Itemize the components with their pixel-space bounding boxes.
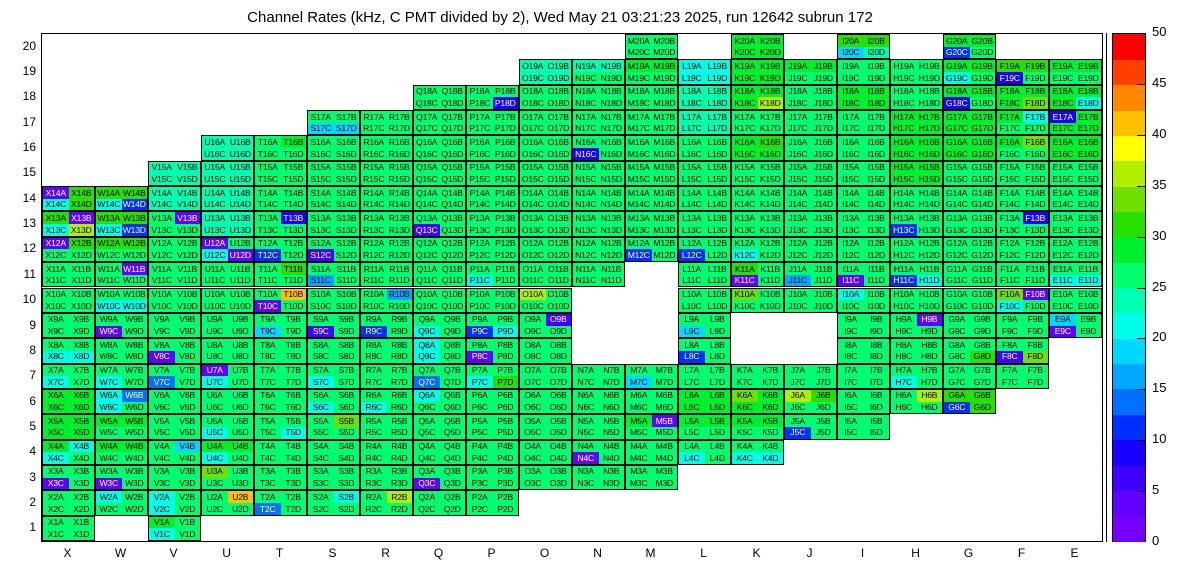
heatmap-cell-X11[interactable]: X11AX11BX11CX11D <box>42 262 95 287</box>
channel-F18B[interactable]: F18B <box>1023 86 1049 98</box>
channel-G12B[interactable]: G12B <box>970 238 996 250</box>
channel-O9D[interactable]: O9D <box>546 326 572 338</box>
channel-W9A[interactable]: W9A <box>96 314 122 326</box>
channel-M3C[interactable]: M3C <box>626 478 652 490</box>
channel-N5B[interactable]: N5B <box>599 415 625 427</box>
channel-N17B[interactable]: N17B <box>599 111 625 123</box>
channel-W8B[interactable]: W8B <box>122 339 148 351</box>
channel-X14A[interactable]: X14A <box>43 187 69 199</box>
channel-W12D[interactable]: W12D <box>122 249 148 261</box>
channel-H18D[interactable]: H18D <box>917 97 943 109</box>
channel-G7D[interactable]: G7D <box>970 376 996 388</box>
channel-R16D[interactable]: R16D <box>387 148 413 160</box>
channel-H12B[interactable]: H12B <box>917 238 943 250</box>
channel-H8B[interactable]: H8B <box>917 339 943 351</box>
heatmap-cell-O19[interactable]: O19AO19BO19CO19D <box>519 59 572 84</box>
channel-K19B[interactable]: K19B <box>758 60 784 72</box>
channel-T6A[interactable]: T6A <box>255 390 281 402</box>
channel-J14D[interactable]: J14D <box>811 199 837 211</box>
channel-J13B[interactable]: J13B <box>811 212 837 224</box>
channel-G17C[interactable]: G17C <box>944 123 970 135</box>
channel-L15A[interactable]: L15A <box>679 162 705 174</box>
channel-Q4C[interactable]: Q4C <box>414 452 440 464</box>
channel-M5B[interactable]: M5B <box>652 415 678 427</box>
channel-U12D[interactable]: U12D <box>228 249 254 261</box>
channel-O19D[interactable]: O19D <box>546 72 572 84</box>
channel-Q9B[interactable]: Q9B <box>440 314 466 326</box>
channel-M16D[interactable]: M16D <box>652 148 678 160</box>
channel-M18B[interactable]: M18B <box>652 86 678 98</box>
channel-J17D[interactable]: J17D <box>811 123 837 135</box>
heatmap-cell-J6[interactable]: J6AJ6BJ6CJ6D <box>784 389 837 414</box>
channel-L18D[interactable]: L18D <box>705 97 731 109</box>
channel-G11A[interactable]: G11A <box>944 263 970 275</box>
channel-X8B[interactable]: X8B <box>69 339 95 351</box>
channel-O17D[interactable]: O17D <box>546 123 572 135</box>
heatmap-cell-H12[interactable]: H12AH12BH12CH12D <box>890 237 943 262</box>
channel-T10B[interactable]: T10B <box>281 289 307 301</box>
channel-N17C[interactable]: N17C <box>573 123 599 135</box>
channel-X7D[interactable]: X7D <box>69 376 95 388</box>
channel-K19D[interactable]: K19D <box>758 72 784 84</box>
channel-F18D[interactable]: F18D <box>1023 97 1049 109</box>
channel-G18B[interactable]: G18B <box>970 86 996 98</box>
channel-L7B[interactable]: L7B <box>705 365 731 377</box>
channel-L4D[interactable]: L4D <box>705 452 731 464</box>
channel-S10A[interactable]: S10A <box>308 289 334 301</box>
channel-X1D[interactable]: X1D <box>69 528 95 540</box>
channel-G9B[interactable]: G9B <box>970 314 996 326</box>
channel-Q15D[interactable]: Q15D <box>440 173 466 185</box>
channel-P17A[interactable]: P17A <box>467 111 493 123</box>
channel-S12B[interactable]: S12B <box>334 238 360 250</box>
channel-O15B[interactable]: O15B <box>546 162 572 174</box>
heatmap-cell-F17[interactable]: F17AF17BF17CF17D <box>996 110 1049 135</box>
heatmap-cell-W5[interactable]: W5AW5BW5CW5D <box>95 414 148 439</box>
channel-G15D[interactable]: G15D <box>970 173 996 185</box>
channel-E9B[interactable]: E9B <box>1076 314 1102 326</box>
channel-M14D[interactable]: M14D <box>652 199 678 211</box>
channel-R16C[interactable]: R16C <box>361 148 387 160</box>
channel-E12D[interactable]: E12D <box>1076 249 1102 261</box>
channel-V12D[interactable]: V12D <box>175 249 201 261</box>
channel-S3D[interactable]: S3D <box>334 478 360 490</box>
channel-P14A[interactable]: P14A <box>467 187 493 199</box>
channel-E15A[interactable]: E15A <box>1050 162 1076 174</box>
channel-I10D[interactable]: I10D <box>864 300 890 312</box>
channel-O9B[interactable]: O9B <box>546 314 572 326</box>
channel-Q6C[interactable]: Q6C <box>414 402 440 414</box>
channel-F8C[interactable]: F8C <box>997 351 1023 363</box>
channel-F8D[interactable]: F8D <box>1023 351 1049 363</box>
channel-W5B[interactable]: W5B <box>122 415 148 427</box>
channel-M5D[interactable]: M5D <box>652 427 678 439</box>
channel-V1D[interactable]: V1D <box>175 528 201 540</box>
heatmap-cell-E19[interactable]: E19AE19BE19CE19D <box>1049 59 1102 84</box>
channel-H16B[interactable]: H16B <box>917 136 943 148</box>
channel-L11D[interactable]: L11D <box>705 275 731 287</box>
heatmap-cell-P7[interactable]: P7AP7BP7CP7D <box>466 364 519 389</box>
channel-Q3C[interactable]: Q3C <box>414 478 440 490</box>
channel-X7C[interactable]: X7C <box>43 376 69 388</box>
channel-N5D[interactable]: N5D <box>599 427 625 439</box>
channel-N16B[interactable]: N16B <box>599 136 625 148</box>
heatmap-cell-J14[interactable]: J14AJ14BJ14CJ14D <box>784 186 837 211</box>
channel-W12A[interactable]: W12A <box>96 238 122 250</box>
heatmap-cell-N15[interactable]: N15AN15BN15CN15D <box>572 161 625 186</box>
heatmap-cell-M6[interactable]: M6AM6BM6CM6D <box>625 389 678 414</box>
channel-W14B[interactable]: W14B <box>122 187 148 199</box>
heatmap-cell-N16[interactable]: N16AN16BN16CN16D <box>572 135 625 160</box>
channel-V10A[interactable]: V10A <box>149 289 175 301</box>
channel-K7D[interactable]: K7D <box>758 376 784 388</box>
channel-U15D[interactable]: U15D <box>228 173 254 185</box>
channel-R2B[interactable]: R2B <box>387 491 413 503</box>
channel-X14B[interactable]: X14B <box>69 187 95 199</box>
channel-T11C[interactable]: T11C <box>255 275 281 287</box>
channel-K12C[interactable]: K12C <box>732 249 758 261</box>
channel-P13D[interactable]: P13D <box>493 224 519 236</box>
channel-O14A[interactable]: O14A <box>520 187 546 199</box>
channel-R17B[interactable]: R17B <box>387 111 413 123</box>
channel-H10B[interactable]: H10B <box>917 289 943 301</box>
channel-J16D[interactable]: J16D <box>811 148 837 160</box>
channel-X9D[interactable]: X9D <box>69 326 95 338</box>
heatmap-cell-T15[interactable]: T15AT15BT15CT15D <box>254 161 307 186</box>
channel-P18A[interactable]: P18A <box>467 86 493 98</box>
channel-X2A[interactable]: X2A <box>43 491 69 503</box>
channel-E10D[interactable]: E10D <box>1076 300 1102 312</box>
channel-X12C[interactable]: X12C <box>43 249 69 261</box>
channel-X14C[interactable]: X14C <box>43 199 69 211</box>
channel-X4B[interactable]: X4B <box>69 441 95 453</box>
channel-U10D[interactable]: U10D <box>228 300 254 312</box>
channel-E11D[interactable]: E11D <box>1076 275 1102 287</box>
channel-W2C[interactable]: W2C <box>96 503 122 515</box>
channel-U12B[interactable]: U12B <box>228 238 254 250</box>
heatmap-cell-L15[interactable]: L15AL15BL15CL15D <box>678 161 731 186</box>
channel-T9D[interactable]: T9D <box>281 326 307 338</box>
heatmap-cell-L12[interactable]: L12AL12BL12CL12D <box>678 237 731 262</box>
channel-N3D[interactable]: N3D <box>599 478 625 490</box>
channel-V13D[interactable]: V13D <box>175 224 201 236</box>
heatmap-cell-R2[interactable]: R2AR2BR2CR2D <box>360 490 413 515</box>
channel-R10A[interactable]: R10A <box>361 289 387 301</box>
channel-S11A[interactable]: S11A <box>308 263 334 275</box>
heatmap-cell-V15[interactable]: V15AV15BV15CV15D <box>148 161 201 186</box>
heatmap-cell-R8[interactable]: R8AR8BR8CR8D <box>360 338 413 363</box>
channel-L16D[interactable]: L16D <box>705 148 731 160</box>
channel-Q8D[interactable]: Q8D <box>440 351 466 363</box>
heatmap-cell-I14[interactable]: I14AI14BI14CI14D <box>837 186 890 211</box>
channel-G17A[interactable]: G17A <box>944 111 970 123</box>
channel-E19A[interactable]: E19A <box>1050 60 1076 72</box>
heatmap-cell-J16[interactable]: J16AJ16BJ16CJ16D <box>784 135 837 160</box>
heatmap-cell-Q3[interactable]: Q3AQ3BQ3CQ3D <box>413 465 466 490</box>
heatmap-cell-J17[interactable]: J17AJ17BJ17CJ17D <box>784 110 837 135</box>
heatmap-cell-G19[interactable]: G19AG19BG19CG19D <box>943 59 996 84</box>
channel-U13A[interactable]: U13A <box>202 212 228 224</box>
heatmap-cell-F11[interactable]: F11AF11BF11CF11D <box>996 262 1049 287</box>
channel-I17C[interactable]: I17C <box>838 123 864 135</box>
heatmap-cell-J11[interactable]: J11AJ11BJ11CJ11D <box>784 262 837 287</box>
channel-I15D[interactable]: I15D <box>864 173 890 185</box>
channel-I12A[interactable]: I12A <box>838 238 864 250</box>
channel-V14A[interactable]: V14A <box>149 187 175 199</box>
channel-O18B[interactable]: O18B <box>546 86 572 98</box>
channel-Q8B[interactable]: Q8B <box>440 339 466 351</box>
channel-S16D[interactable]: S16D <box>334 148 360 160</box>
channel-X2B[interactable]: X2B <box>69 491 95 503</box>
channel-L5B[interactable]: L5B <box>705 415 731 427</box>
channel-G8D[interactable]: G8D <box>970 351 996 363</box>
heatmap-cell-I15[interactable]: I15AI15BI15CI15D <box>837 161 890 186</box>
channel-M12D[interactable]: M12D <box>652 249 678 261</box>
channel-P7B[interactable]: P7B <box>493 365 519 377</box>
heatmap-cell-P18[interactable]: P18AP18BP18CP18D <box>466 85 519 110</box>
channel-T14B[interactable]: T14B <box>281 187 307 199</box>
heatmap-cell-K16[interactable]: K16AK16BK16CK16D <box>731 135 784 160</box>
channel-U4A[interactable]: U4A <box>202 441 228 453</box>
channel-P18B[interactable]: P18B <box>493 86 519 98</box>
channel-R2C[interactable]: R2C <box>361 503 387 515</box>
channel-J13C[interactable]: J13C <box>785 224 811 236</box>
channel-S15D[interactable]: S15D <box>334 173 360 185</box>
channel-G16B[interactable]: G16B <box>970 136 996 148</box>
channel-X10D[interactable]: X10D <box>69 300 95 312</box>
channel-Q18C[interactable]: Q18C <box>414 97 440 109</box>
heatmap-cell-I20[interactable]: I20AI20BI20CI20D <box>837 34 890 59</box>
channel-P3D[interactable]: P3D <box>493 478 519 490</box>
channel-H19B[interactable]: H19B <box>917 60 943 72</box>
channel-J7B[interactable]: J7B <box>811 365 837 377</box>
heatmap-cell-H17[interactable]: H17AH17BH17CH17D <box>890 110 943 135</box>
channel-M19B[interactable]: M19B <box>652 60 678 72</box>
heatmap-cell-K11[interactable]: K11AK11BK11CK11D <box>731 262 784 287</box>
channel-H17B[interactable]: H17B <box>917 111 943 123</box>
channel-L5D[interactable]: L5D <box>705 427 731 439</box>
channel-J12D[interactable]: J12D <box>811 249 837 261</box>
channel-G16A[interactable]: G16A <box>944 136 970 148</box>
channel-N3A[interactable]: N3A <box>573 466 599 478</box>
channel-G19C[interactable]: G19C <box>944 72 970 84</box>
channel-O18A[interactable]: O18A <box>520 86 546 98</box>
channel-G10D[interactable]: G10D <box>970 300 996 312</box>
channel-H11C[interactable]: H11C <box>891 275 917 287</box>
channel-L13C[interactable]: L13C <box>679 224 705 236</box>
channel-T9B[interactable]: T9B <box>281 314 307 326</box>
channel-H6C[interactable]: H6C <box>891 402 917 414</box>
channel-S3A[interactable]: S3A <box>308 466 334 478</box>
channel-O6D[interactable]: O6D <box>546 402 572 414</box>
heatmap-cell-N18[interactable]: N18AN18BN18CN18D <box>572 85 625 110</box>
channel-O5B[interactable]: O5B <box>546 415 572 427</box>
channel-J14A[interactable]: J14A <box>785 187 811 199</box>
heatmap-cell-Q7[interactable]: Q7AQ7BQ7CQ7D <box>413 364 466 389</box>
channel-T5C[interactable]: T5C <box>255 427 281 439</box>
heatmap-cell-P14[interactable]: P14AP14BP14CP14D <box>466 186 519 211</box>
channel-V14D[interactable]: V14D <box>175 199 201 211</box>
channel-W7C[interactable]: W7C <box>96 376 122 388</box>
channel-Q2A[interactable]: Q2A <box>414 491 440 503</box>
channel-T8C[interactable]: T8C <box>255 351 281 363</box>
heatmap-cell-Q8[interactable]: Q8AQ8BQ8CQ8D <box>413 338 466 363</box>
channel-L6D[interactable]: L6D <box>705 402 731 414</box>
channel-Q6D[interactable]: Q6D <box>440 402 466 414</box>
channel-I17A[interactable]: I17A <box>838 111 864 123</box>
channel-N6D[interactable]: N6D <box>599 402 625 414</box>
channel-O13A[interactable]: O13A <box>520 212 546 224</box>
channel-K7B[interactable]: K7B <box>758 365 784 377</box>
channel-V1C[interactable]: V1C <box>149 528 175 540</box>
channel-I16C[interactable]: I16C <box>838 148 864 160</box>
channel-E19D[interactable]: E19D <box>1076 72 1102 84</box>
channel-L13D[interactable]: L13D <box>705 224 731 236</box>
channel-N12D[interactable]: N12D <box>599 249 625 261</box>
channel-F9D[interactable]: F9D <box>1023 326 1049 338</box>
heatmap-cell-I5[interactable]: I5AI5BI5CI5D <box>837 414 890 439</box>
channel-Q17C[interactable]: Q17C <box>414 123 440 135</box>
channel-J10C[interactable]: J10C <box>785 300 811 312</box>
channel-T2D[interactable]: T2D <box>281 503 307 515</box>
channel-K13A[interactable]: K13A <box>732 212 758 224</box>
channel-R13C[interactable]: R13C <box>361 224 387 236</box>
channel-S10C[interactable]: S10C <box>308 300 334 312</box>
channel-P2A[interactable]: P2A <box>467 491 493 503</box>
channel-L7A[interactable]: L7A <box>679 365 705 377</box>
channel-W10B[interactable]: W10B <box>122 289 148 301</box>
heatmap-cell-Q14[interactable]: Q14AQ14BQ14CQ14D <box>413 186 466 211</box>
channel-U14D[interactable]: U14D <box>228 199 254 211</box>
heatmap-cell-S5[interactable]: S5AS5BS5CS5D <box>307 414 360 439</box>
heatmap-cell-I8[interactable]: I8AI8BI8CI8D <box>837 338 890 363</box>
channel-S6C[interactable]: S6C <box>308 402 334 414</box>
channel-N11C[interactable]: N11C <box>573 275 599 287</box>
channel-M18D[interactable]: M18D <box>652 97 678 109</box>
channel-W8C[interactable]: W8C <box>96 351 122 363</box>
channel-E17D[interactable]: E17D <box>1076 123 1102 135</box>
channel-F19B[interactable]: F19B <box>1023 60 1049 72</box>
channel-S3C[interactable]: S3C <box>308 478 334 490</box>
channel-K20A[interactable]: K20A <box>732 35 758 47</box>
channel-N5A[interactable]: N5A <box>573 415 599 427</box>
channel-Q2C[interactable]: Q2C <box>414 503 440 515</box>
channel-M14C[interactable]: M14C <box>626 199 652 211</box>
channel-P16B[interactable]: P16B <box>493 136 519 148</box>
heatmap-cell-K13[interactable]: K13AK13BK13CK13D <box>731 211 784 236</box>
channel-U9B[interactable]: U9B <box>228 314 254 326</box>
channel-N4A[interactable]: N4A <box>573 441 599 453</box>
channel-H14B[interactable]: H14B <box>917 187 943 199</box>
channel-L4A[interactable]: L4A <box>679 441 705 453</box>
channel-L11C[interactable]: L11C <box>679 275 705 287</box>
channel-R7A[interactable]: R7A <box>361 365 387 377</box>
channel-P6C[interactable]: P6C <box>467 402 493 414</box>
channel-M15C[interactable]: M15C <box>626 173 652 185</box>
channel-J6C[interactable]: J6C <box>785 402 811 414</box>
channel-E12C[interactable]: E12C <box>1050 249 1076 261</box>
channel-N13D[interactable]: N13D <box>599 224 625 236</box>
heatmap-cell-R4[interactable]: R4AR4BR4CR4D <box>360 440 413 465</box>
channel-Q4B[interactable]: Q4B <box>440 441 466 453</box>
channel-K7C[interactable]: K7C <box>732 376 758 388</box>
channel-E17B[interactable]: E17B <box>1076 111 1102 123</box>
channel-I20D[interactable]: I20D <box>864 47 890 59</box>
channel-S9B[interactable]: S9B <box>334 314 360 326</box>
channel-L14B[interactable]: L14B <box>705 187 731 199</box>
channel-L9A[interactable]: L9A <box>679 314 705 326</box>
heatmap-cell-U16[interactable]: U16AU16BU16CU16D <box>201 135 254 160</box>
channel-L10C[interactable]: L10C <box>679 300 705 312</box>
channel-X7B[interactable]: X7B <box>69 365 95 377</box>
heatmap-cell-N17[interactable]: N17AN17BN17CN17D <box>572 110 625 135</box>
channel-U13D[interactable]: U13D <box>228 224 254 236</box>
channel-K16D[interactable]: K16D <box>758 148 784 160</box>
channel-Q16D[interactable]: Q16D <box>440 148 466 160</box>
channel-G17D[interactable]: G17D <box>970 123 996 135</box>
channel-S2A[interactable]: S2A <box>308 491 334 503</box>
channel-K12A[interactable]: K12A <box>732 238 758 250</box>
channel-J18D[interactable]: J18D <box>811 97 837 109</box>
channel-I11A[interactable]: I11A <box>838 263 864 275</box>
channel-R12A[interactable]: R12A <box>361 238 387 250</box>
heatmap-cell-I7[interactable]: I7AI7BI7CI7D <box>837 364 890 389</box>
channel-K6A[interactable]: K6A <box>732 390 758 402</box>
channel-U10A[interactable]: U10A <box>202 289 228 301</box>
channel-H12D[interactable]: H12D <box>917 249 943 261</box>
heatmap-cell-N12[interactable]: N12AN12BN12CN12D <box>572 237 625 262</box>
channel-G10C[interactable]: G10C <box>944 300 970 312</box>
channel-S9D[interactable]: S9D <box>334 326 360 338</box>
channel-Q4D[interactable]: Q4D <box>440 452 466 464</box>
channel-O5C[interactable]: O5C <box>520 427 546 439</box>
channel-R13B[interactable]: R13B <box>387 212 413 224</box>
channel-R3C[interactable]: R3C <box>361 478 387 490</box>
channel-O8A[interactable]: O8A <box>520 339 546 351</box>
channel-Q6B[interactable]: Q6B <box>440 390 466 402</box>
heatmap-cell-J10[interactable]: J10AJ10BJ10CJ10D <box>784 288 837 313</box>
channel-M19A[interactable]: M19A <box>626 60 652 72</box>
channel-R6A[interactable]: R6A <box>361 390 387 402</box>
channel-G13C[interactable]: G13C <box>944 224 970 236</box>
channel-W3D[interactable]: W3D <box>122 478 148 490</box>
heatmap-cell-O11[interactable]: O11AO11BO11CO11D <box>519 262 572 287</box>
channel-G17B[interactable]: G17B <box>970 111 996 123</box>
channel-G10B[interactable]: G10B <box>970 289 996 301</box>
channel-W7A[interactable]: W7A <box>96 365 122 377</box>
heatmap-cell-U3[interactable]: U3AU3BU3CU3D <box>201 465 254 490</box>
heatmap-cell-S13[interactable]: S13AS13BS13CS13D <box>307 211 360 236</box>
channel-O16D[interactable]: O16D <box>546 148 572 160</box>
channel-W6C[interactable]: W6C <box>96 402 122 414</box>
heatmap-cell-T13[interactable]: T13AT13BT13CT13D <box>254 211 307 236</box>
channel-J5B[interactable]: J5B <box>811 415 837 427</box>
channel-O10B[interactable]: O10B <box>546 289 572 301</box>
heatmap-cell-W12[interactable]: W12AW12BW12CW12D <box>95 237 148 262</box>
channel-I6D[interactable]: I6D <box>864 402 890 414</box>
channel-P8C[interactable]: P8C <box>467 351 493 363</box>
channel-K4B[interactable]: K4B <box>758 441 784 453</box>
heatmap-cell-T10[interactable]: T10AT10BT10CT10D <box>254 288 307 313</box>
channel-U12C[interactable]: U12C <box>202 249 228 261</box>
channel-I14A[interactable]: I14A <box>838 187 864 199</box>
channel-J7A[interactable]: J7A <box>785 365 811 377</box>
heatmap-cell-E15[interactable]: E15AE15BE15CE15D <box>1049 161 1102 186</box>
channel-V13C[interactable]: V13C <box>149 224 175 236</box>
channel-K14A[interactable]: K14A <box>732 187 758 199</box>
channel-F16B[interactable]: F16B <box>1023 136 1049 148</box>
channel-M18C[interactable]: M18C <box>626 97 652 109</box>
